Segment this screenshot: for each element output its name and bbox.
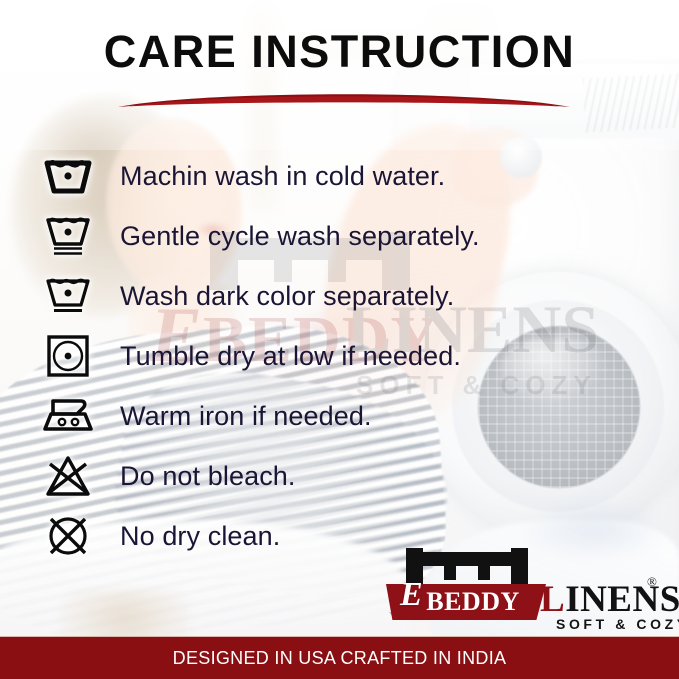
warm-iron-icon [36, 395, 100, 437]
instruction-row: Do not bleach. [36, 446, 636, 506]
instruction-text: Warm iron if needed. [100, 401, 372, 432]
footer-bar: DESIGNED IN USA CRAFTED IN INDIA [0, 636, 679, 679]
logo-word-linens: LINENS [540, 578, 679, 621]
wash-tub-gentle-icon [36, 212, 100, 260]
instruction-row: Gentle cycle wash separately. [36, 206, 636, 266]
instruction-text: Gentle cycle wash separately. [100, 221, 480, 252]
instruction-list: Machin wash in cold water. Gentle cycle … [36, 146, 636, 566]
bed-icon [406, 548, 528, 586]
instruction-text: Tumble dry at low if needed. [100, 341, 461, 372]
do-not-dry-clean-icon [36, 513, 100, 559]
instruction-text: Machin wash in cold water. [100, 161, 445, 192]
instruction-row: Warm iron if needed. [36, 386, 636, 446]
instruction-text: Wash dark color separately. [100, 281, 454, 312]
instruction-text: Do not bleach. [100, 461, 296, 492]
red-swoosh-divider [118, 88, 570, 110]
instruction-text: No dry clean. [100, 521, 280, 552]
instruction-row: Wash dark color separately. [36, 266, 636, 326]
logo-word-linens-initial: L [540, 579, 565, 620]
logo-word-linens-rest: INENS [565, 579, 679, 620]
wash-tub-icon [36, 155, 100, 197]
wash-tub-permanent-press-icon [36, 273, 100, 319]
logo-brand-text: BEDDY [398, 584, 548, 620]
page-title: CARE INSTRUCTION [0, 26, 679, 78]
care-instruction-card: EBEDDY LINENS SOFT & COZY CARE INSTRUCTI… [0, 0, 679, 679]
logo-tagline: SOFT & COZY [556, 616, 679, 632]
registered-trademark-icon: ® [647, 574, 657, 590]
tumble-dry-low-icon [36, 333, 100, 379]
do-not-bleach-icon [36, 454, 100, 498]
brand-logo: E BEDDY LINENS ® SOFT & COZY [398, 548, 666, 636]
footer-text: DESIGNED IN USA CRAFTED IN INDIA [173, 648, 507, 669]
instruction-row: Machin wash in cold water. [36, 146, 636, 206]
instruction-row: Tumble dry at low if needed. [36, 326, 636, 386]
